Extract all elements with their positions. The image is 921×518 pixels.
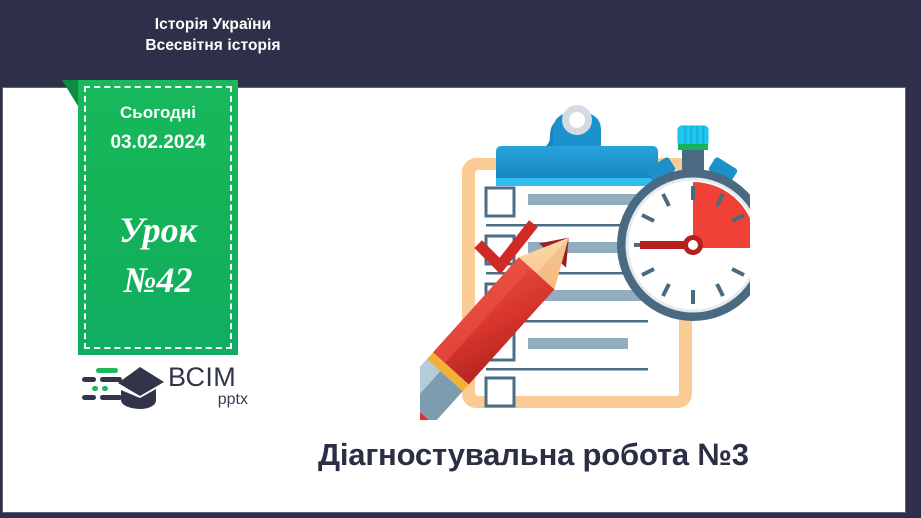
lesson-card-body: Сьогодні 03.02.2024 Урок №42 bbox=[78, 80, 238, 355]
slide: Історія України Всесвітня історія Сьогод… bbox=[0, 0, 921, 518]
page-title: Діагностувальна робота №3 bbox=[318, 437, 878, 473]
test-illustration bbox=[420, 100, 750, 420]
today-date: 03.02.2024 bbox=[78, 128, 238, 158]
lesson-number: №42 bbox=[78, 255, 238, 305]
lesson-card: Сьогодні 03.02.2024 Урок №42 bbox=[78, 80, 238, 355]
logo-brand: ВСІМ bbox=[168, 364, 250, 391]
lesson-number-block: Урок №42 bbox=[78, 205, 238, 305]
logo-wordmark: ВСІМ pptx bbox=[168, 364, 250, 408]
subject-line-2: Всесвітня історія bbox=[0, 35, 426, 56]
subject-header: Історія України Всесвітня історія bbox=[0, 14, 426, 56]
graduation-cap-icon bbox=[80, 362, 166, 412]
header-band: Історія України Всесвітня історія bbox=[0, 0, 921, 88]
logo-extension: pptx bbox=[168, 392, 250, 408]
today-label: Сьогодні bbox=[78, 98, 238, 128]
subject-line-1: Історія України bbox=[0, 14, 426, 35]
card-fold-corner bbox=[62, 80, 78, 106]
lesson-word: Урок bbox=[78, 205, 238, 255]
clipboard-clip bbox=[496, 105, 658, 186]
vsim-logo[interactable]: ВСІМ pptx bbox=[80, 362, 250, 414]
